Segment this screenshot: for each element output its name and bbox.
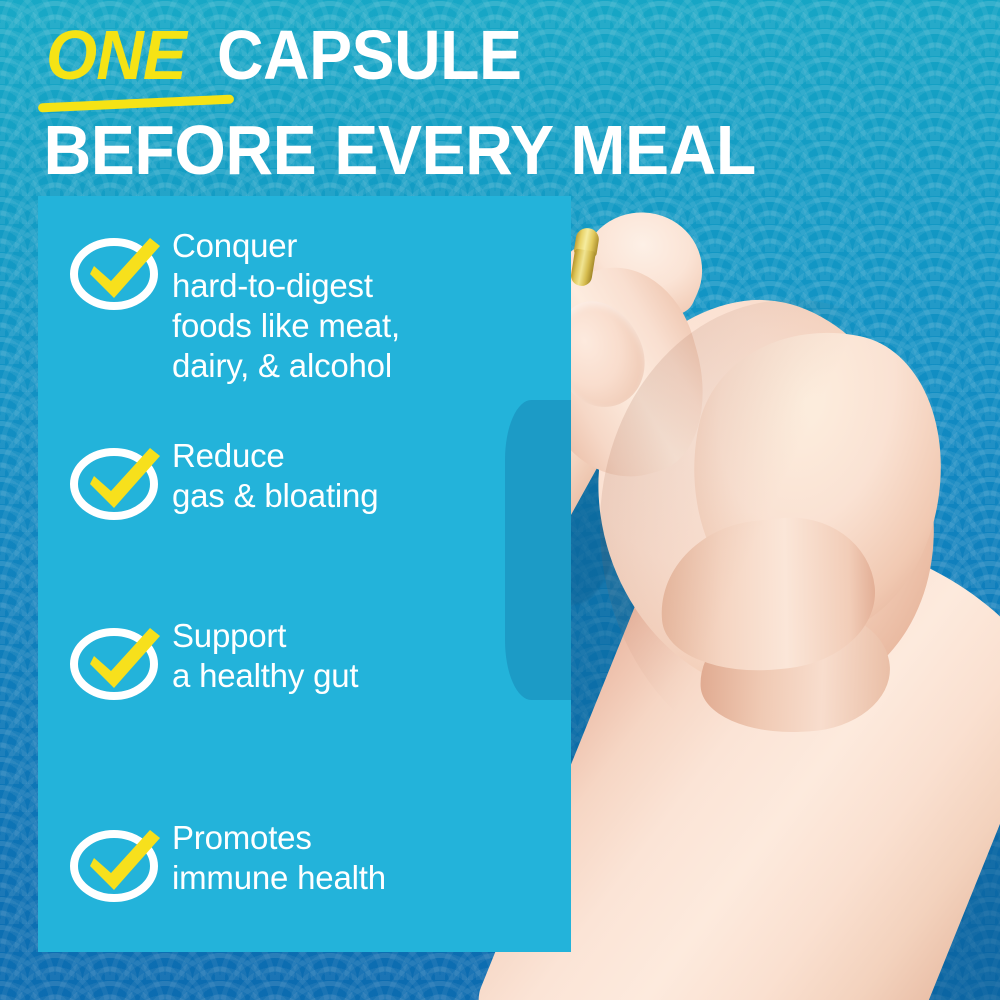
benefits-panel: Conquer hard-to-digest foods like meat, … [38,196,571,952]
headline-emphasis-word: ONE [46,20,186,90]
headline-block: ONE CAPSULE BEFORE EVERY MEAL [0,0,1000,186]
check-circle-icon [64,224,172,316]
benefit-label: Support a healthy gut [172,614,358,696]
capsule-bottom-half [570,248,596,287]
headline-line-1-rest: CAPSULE [217,20,522,90]
benefit-item: Conquer hard-to-digest foods like meat, … [38,224,571,386]
product-benefits-poster: ONE CAPSULE BEFORE EVERY MEAL Conquer ha… [0,0,1000,1000]
check-circle-icon [64,614,172,706]
headline-line-2: BEFORE EVERY MEAL [0,114,945,186]
headline-underline-stroke [38,95,234,113]
benefit-item: Promotes immune health [38,816,571,908]
headline-emphasis-wrap: ONE [46,20,195,90]
benefit-item: Support a healthy gut [38,614,571,706]
benefit-label: Reduce gas & bloating [172,434,378,516]
check-circle-icon [64,434,172,526]
benefit-label: Promotes immune health [172,816,386,898]
headline-line-1: ONE CAPSULE [0,16,1000,90]
check-circle-icon [64,816,172,908]
benefit-item: Reduce gas & bloating [38,434,571,526]
benefit-label: Conquer hard-to-digest foods like meat, … [172,224,400,386]
